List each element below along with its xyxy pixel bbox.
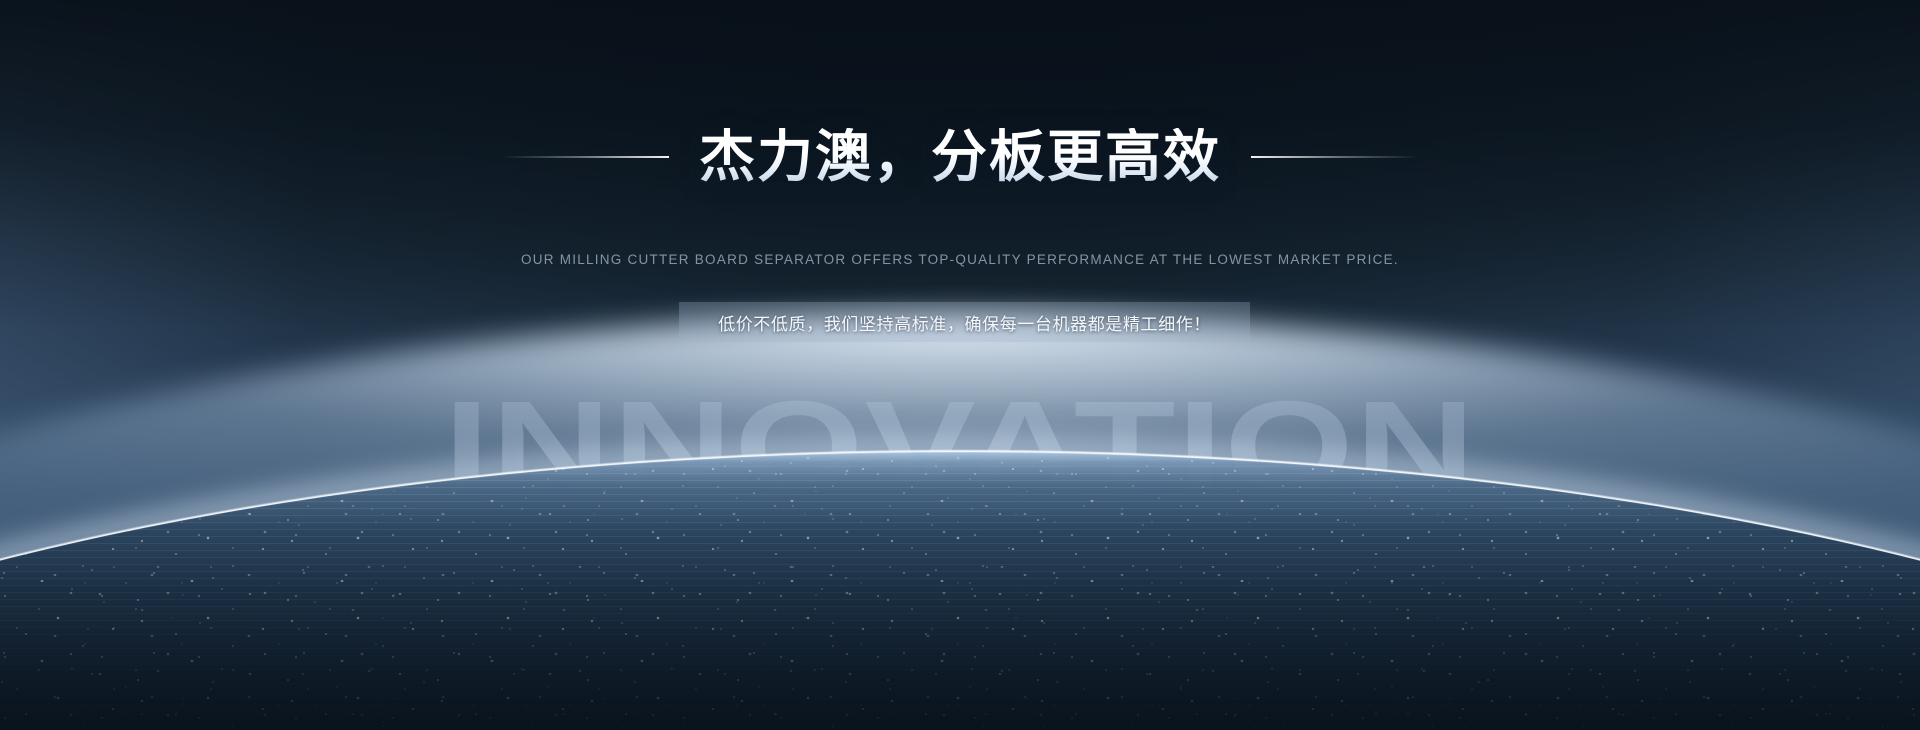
hero-banner: INNOVATION 杰力澳，分板更高效 OUR MILLING CUTTER … bbox=[0, 0, 1920, 730]
hero-subheadline: OUR MILLING CUTTER BOARD SEPARATOR OFFER… bbox=[0, 252, 1920, 267]
hero-ribbon-text: 低价不低质，我们坚持高标准，确保每一台机器都是精工细作！ bbox=[718, 310, 1211, 335]
earth-horizon-graphic bbox=[0, 0, 1920, 730]
planet-shadow bbox=[0, 602, 1920, 730]
planet-surface bbox=[0, 452, 1920, 730]
hero-headline: 杰力澳，分板更高效 bbox=[699, 128, 1221, 187]
headline-right-rule-decoration bbox=[1251, 156, 1419, 158]
headline-left-rule-decoration bbox=[501, 156, 669, 158]
hero-ribbon-banner: 低价不低质，我们坚持高标准，确保每一台机器都是精工细作！ bbox=[679, 302, 1250, 342]
headline-row: 杰力澳，分板更高效 bbox=[0, 128, 1920, 187]
